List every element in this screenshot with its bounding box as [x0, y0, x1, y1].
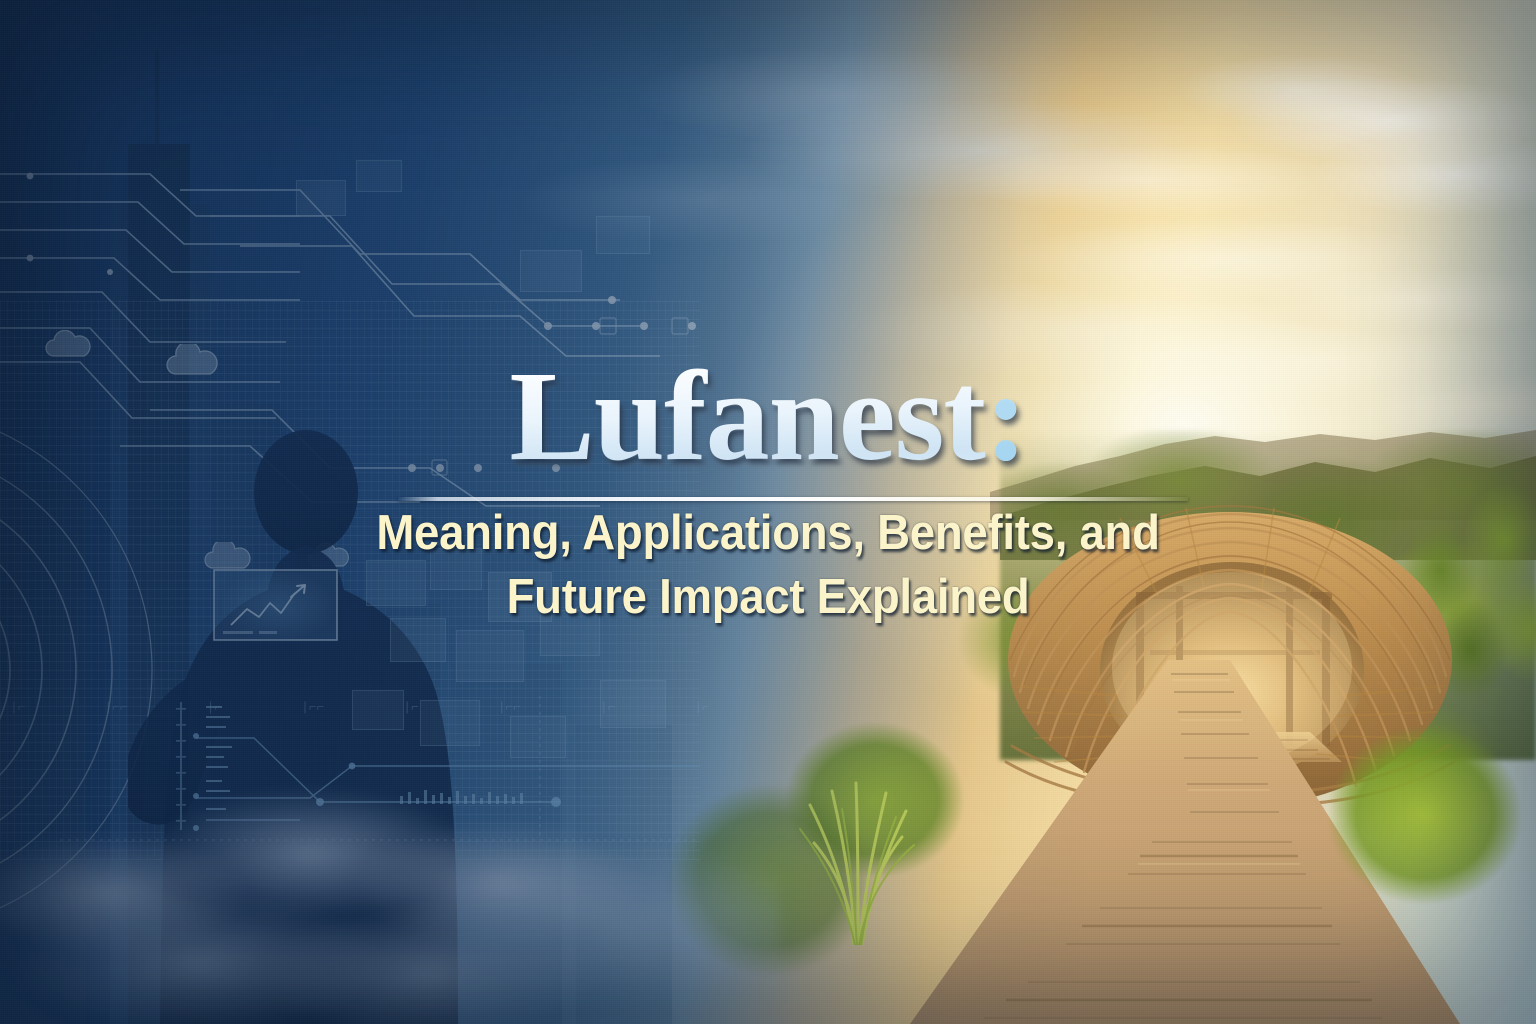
subtitle-line-2: Future Impact Explained — [54, 566, 1482, 630]
article-hero-banner: |⌐ |⌐⌐ |⌐ |⌐⌐ |⌐ |⌐⌐ |⌐ |⌐ Lufanest: Mea… — [0, 0, 1536, 1024]
hero-text-block: Lufanest: Meaning, Applications, Benefit… — [0, 352, 1536, 629]
subtitle-line-1: Meaning, Applications, Benefits, and — [54, 502, 1482, 566]
page-subtitle: Meaning, Applications, Benefits, and Fut… — [54, 480, 1482, 629]
title-colon: : — [985, 345, 1027, 487]
page-title: Lufanest: — [0, 352, 1536, 480]
title-main-text: Lufanest — [509, 345, 985, 487]
